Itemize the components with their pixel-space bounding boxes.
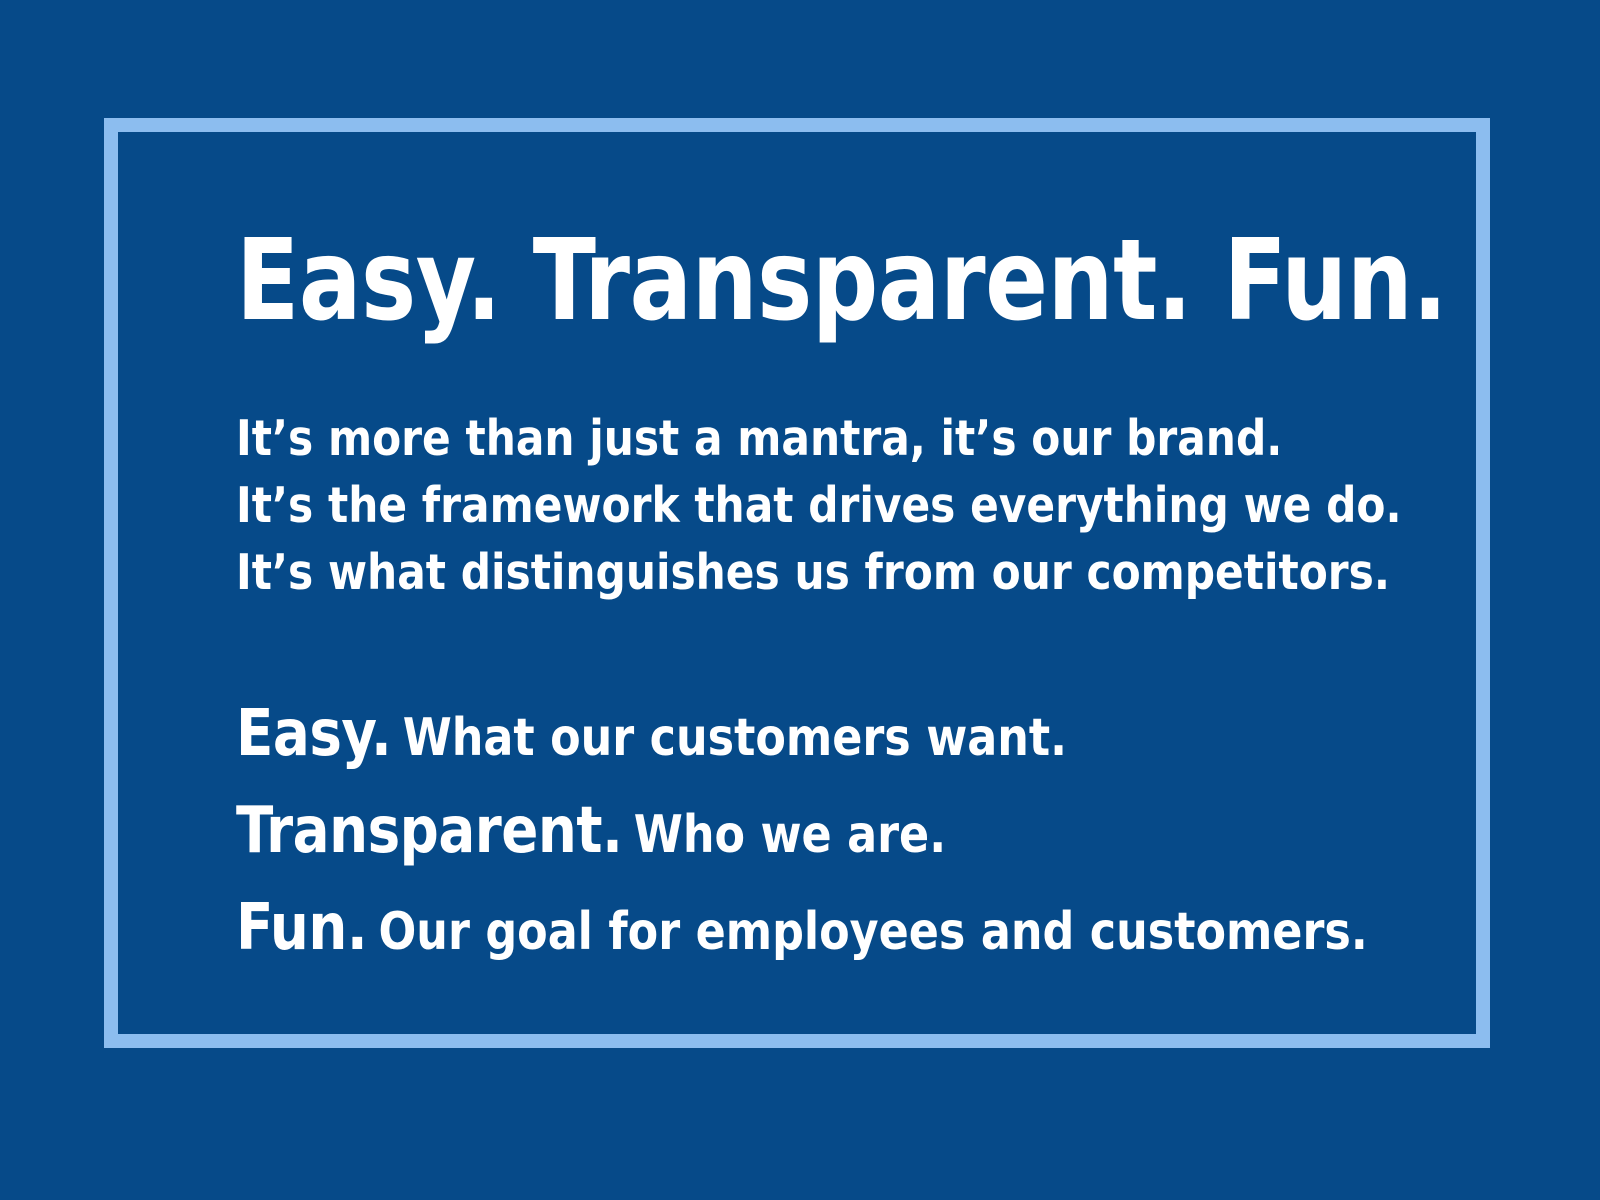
intro-line-3: It’s what distinguishes us from our comp… <box>236 539 1369 606</box>
intro-line-2: It’s the framework that drives everythin… <box>236 472 1369 539</box>
definition-item-fun: Fun.Our goal for employees and customers… <box>236 888 1357 985</box>
definition-term-transparent: Transparent. <box>236 794 622 868</box>
definition-item-transparent: Transparent.Who we are. <box>236 791 1357 888</box>
definition-description-fun: Our goal for employees and customers. <box>379 902 1368 962</box>
slide-canvas: Easy. Transparent. Fun. It’s more than j… <box>0 0 1600 1200</box>
intro-line-1: It’s more than just a mantra, it’s our b… <box>236 405 1369 472</box>
definition-description-easy: What our customers want. <box>403 708 1067 768</box>
definition-description-transparent: Who we are. <box>634 805 946 865</box>
definition-list: Easy.What our customers want. Transparen… <box>236 694 1416 985</box>
definition-term-easy: Easy. <box>236 697 391 771</box>
definition-item-easy: Easy.What our customers want. <box>236 694 1357 791</box>
page-title: Easy. Transparent. Fun. <box>236 225 1322 337</box>
intro-paragraph: It’s more than just a mantra, it’s our b… <box>236 405 1416 606</box>
slide-content: Easy. Transparent. Fun. It’s more than j… <box>236 225 1416 985</box>
definition-term-fun: Fun. <box>236 891 367 965</box>
